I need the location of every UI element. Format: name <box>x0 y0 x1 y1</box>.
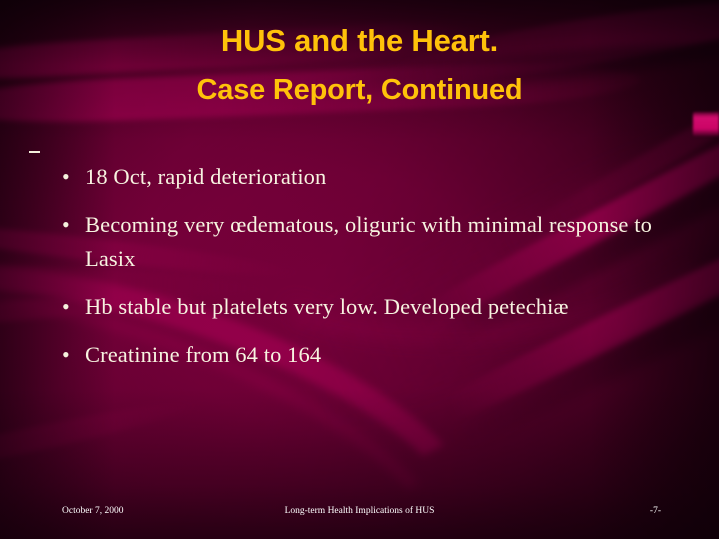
slide-title-subtitle: Case Report, Continued <box>0 71 719 109</box>
list-item: • 18 Oct, rapid deterioration <box>55 160 675 194</box>
bullet-marker-icon: • <box>55 208 85 242</box>
bullet-text: 18 Oct, rapid deterioration <box>85 160 675 194</box>
bullet-marker-icon: • <box>55 160 85 194</box>
list-item: • Hb stable but platelets very low. Deve… <box>55 290 675 324</box>
bullet-text: Hb stable but platelets very low. Develo… <box>85 290 675 324</box>
footer-page-number: -7- <box>650 506 661 516</box>
list-item: • Creatinine from 64 to 164 <box>55 338 675 372</box>
bullet-marker-icon: • <box>55 290 85 324</box>
slide-content: HUS and the Heart. Case Report, Continue… <box>0 0 719 539</box>
stray-dash-artifact <box>29 151 40 153</box>
slide-title-primary: HUS and the Heart. <box>0 22 719 60</box>
slide-title-block: HUS and the Heart. Case Report, Continue… <box>0 22 719 109</box>
presentation-slide: HUS and the Heart. Case Report, Continue… <box>0 0 719 539</box>
list-item: • Becoming very œdematous, oliguric with… <box>55 208 675 276</box>
bullet-text: Becoming very œdematous, oliguric with m… <box>85 208 675 276</box>
bullet-marker-icon: • <box>55 338 85 372</box>
bullet-text: Creatinine from 64 to 164 <box>85 338 675 372</box>
footer-presentation-title: Long-term Health Implications of HUS <box>0 506 719 516</box>
slide-footer: October 7, 2000 Long-term Health Implica… <box>0 506 719 520</box>
slide-bullet-list: • 18 Oct, rapid deterioration • Becoming… <box>55 160 675 386</box>
